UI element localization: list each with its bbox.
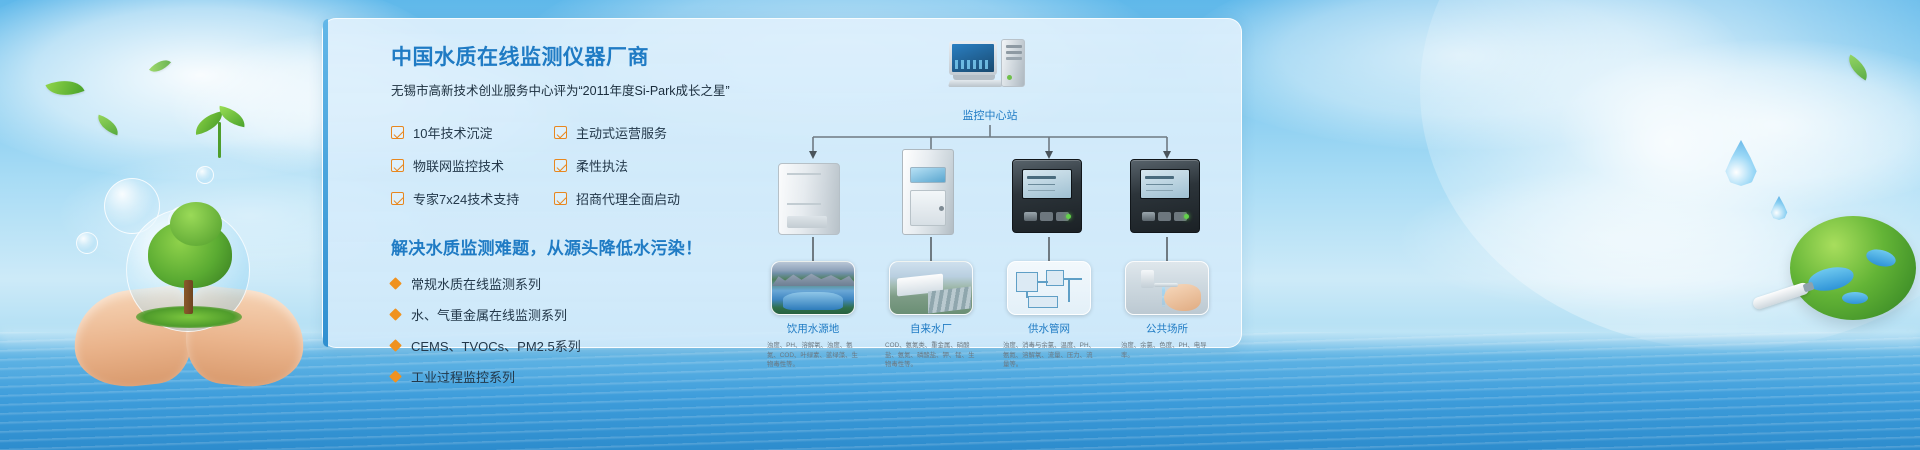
scenario-card[interactable]: 饮用水源地 浊度、PH、溶解氧、浊度、氨氮、COD、叶绿素、蓝绿藻、生物毒性等。 xyxy=(771,261,855,370)
feature-item[interactable]: 10年技术沉淀 xyxy=(391,123,554,142)
diamond-bullet-icon xyxy=(389,277,402,290)
sprout-icon xyxy=(192,108,248,160)
feature-label: 主动式运营服务 xyxy=(576,123,667,142)
scenario-parameters: COD、氨氮类、重金属、硝酸盐、氨氮、磷酸盐、钾、锰、生物毒性等。 xyxy=(885,341,977,370)
feature-item[interactable]: 专家7x24技术支持 xyxy=(391,189,554,208)
checkbox-icon xyxy=(391,126,404,139)
feature-checklist: 10年技术沉淀 主动式运营服务 物联网监控技术 柔性执法 专家7x24技术支持 … xyxy=(391,123,751,208)
feature-label: 物联网监控技术 xyxy=(413,156,504,175)
product-line-label: 工业过程监控系列 xyxy=(411,367,515,386)
feature-label: 招商代理全面启动 xyxy=(576,189,680,208)
scenario-photo-water-source xyxy=(771,261,855,315)
feature-item[interactable]: 物联网监控技术 xyxy=(391,156,554,175)
scenario-caption: 饮用水源地 xyxy=(771,321,855,336)
diamond-bullet-icon xyxy=(389,308,402,321)
feature-item[interactable]: 招商代理全面启动 xyxy=(554,189,724,208)
feature-item[interactable]: 柔性执法 xyxy=(554,156,724,175)
diamond-bullet-icon xyxy=(389,339,402,352)
scenario-photo-water-plant xyxy=(889,261,973,315)
device-cabinet-analyzer xyxy=(774,145,852,231)
scenario-photo-public-place xyxy=(1125,261,1209,315)
product-line-label: CEMS、TVOCs、PM2.5系列 xyxy=(411,336,581,355)
scenario-caption: 供水管网 xyxy=(1007,321,1091,336)
left-text-column: 中国水质在线监测仪器厂商 无锡市高新技术创业服务中心评为“2011年度Si-Pa… xyxy=(391,45,751,386)
product-line-label: 水、气重金属在线监测系列 xyxy=(411,305,567,324)
product-line-list: 常规水质在线监测系列 水、气重金属在线监测系列 CEMS、TVOCs、PM2.5… xyxy=(391,274,751,386)
scenario-caption: 公共场所 xyxy=(1125,321,1209,336)
page-title: 中国水质在线监测仪器厂商 xyxy=(391,45,751,70)
scenario-card[interactable]: 自来水厂 COD、氨氮类、重金属、硝酸盐、氨氮、磷酸盐、钾、锰、生物毒性等。 xyxy=(889,261,973,370)
product-line-item[interactable]: 常规水质在线监测系列 xyxy=(391,274,751,293)
scenario-caption: 自来水厂 xyxy=(889,321,973,336)
bubble xyxy=(196,166,214,184)
product-line-item[interactable]: 工业过程监控系列 xyxy=(391,367,751,386)
scenario-parameters: 浊度、消毒与余氯、温度、PH、氨氮、溶解氧、流量、压力、流量等。 xyxy=(1003,341,1095,370)
feature-item[interactable]: 主动式运营服务 xyxy=(554,123,724,142)
checkbox-icon xyxy=(391,192,404,205)
feature-label: 柔性执法 xyxy=(576,156,628,175)
monitoring-center-label: 监控中心站 xyxy=(915,107,1065,123)
checkbox-icon xyxy=(554,126,567,139)
hands-holding-tree-illustration xyxy=(74,236,304,386)
main-content-panel: 中国水质在线监测仪器厂商 无锡市高新技术创业服务中心评为“2011年度Si-Pa… xyxy=(322,18,1242,348)
diamond-bullet-icon xyxy=(389,370,402,383)
device-rack-analyzer xyxy=(892,145,970,231)
scenario-photo-pipe-network xyxy=(1007,261,1091,315)
scenario-parameters: 浊度、余氯、色度、PH、电导率。 xyxy=(1121,341,1213,360)
checkbox-icon xyxy=(391,159,404,172)
device-panel-controller-2 xyxy=(1128,145,1206,231)
product-line-item[interactable]: 水、气重金属在线监测系列 xyxy=(391,305,751,324)
scenario-card[interactable]: 供水管网 浊度、消毒与余氯、温度、PH、氨氮、溶解氧、流量、压力、流量等。 xyxy=(1007,261,1091,370)
scenario-card[interactable]: 公共场所 浊度、余氯、色度、PH、电导率。 xyxy=(1125,261,1209,360)
page-subtitle: 无锡市高新技术创业服务中心评为“2011年度Si-Park成长之星” xyxy=(391,83,751,101)
monitoring-system-diagram: 监控中心站 xyxy=(753,33,1223,339)
feature-label: 专家7x24技术支持 xyxy=(413,189,519,208)
checkbox-icon xyxy=(554,159,567,172)
section-headline: 解决水质监测难题，从源头降低水污染！ xyxy=(391,234,751,259)
device-panel-controller-1 xyxy=(1010,145,1088,231)
product-line-label: 常规水质在线监测系列 xyxy=(411,274,541,293)
feature-label: 10年技术沉淀 xyxy=(413,123,492,142)
green-earth-illustration xyxy=(1790,216,1916,320)
scenario-parameters: 浊度、PH、溶解氧、浊度、氨氮、COD、叶绿素、蓝绿藻、生物毒性等。 xyxy=(767,341,859,370)
product-line-item[interactable]: CEMS、TVOCs、PM2.5系列 xyxy=(391,336,751,355)
checkbox-icon xyxy=(554,192,567,205)
monitoring-center-computer-icon xyxy=(949,39,1027,89)
